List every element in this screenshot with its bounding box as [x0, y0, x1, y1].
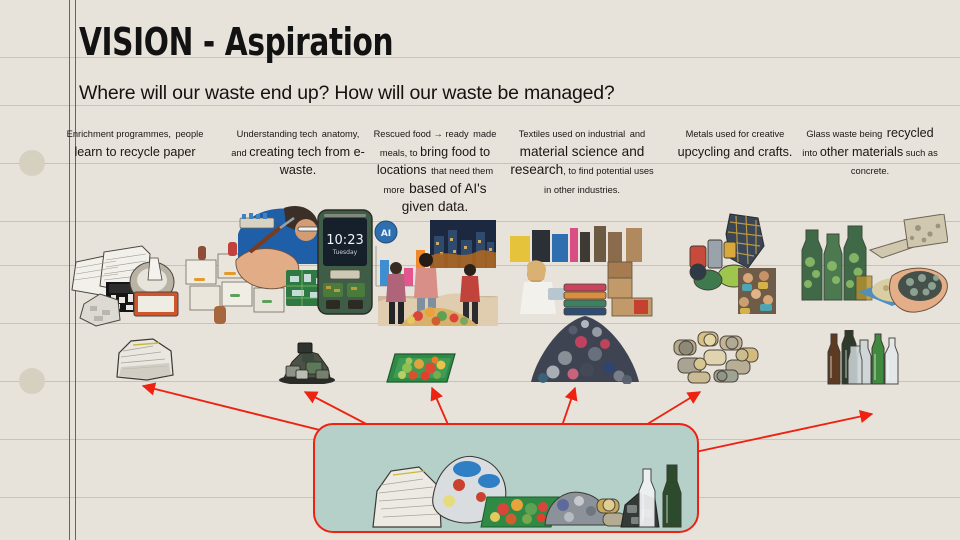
slide-canvas: VISION - Aspiration Where will our waste… — [0, 0, 960, 540]
mixed-waste-box[interactable]: Mixed general waste — [313, 423, 699, 533]
